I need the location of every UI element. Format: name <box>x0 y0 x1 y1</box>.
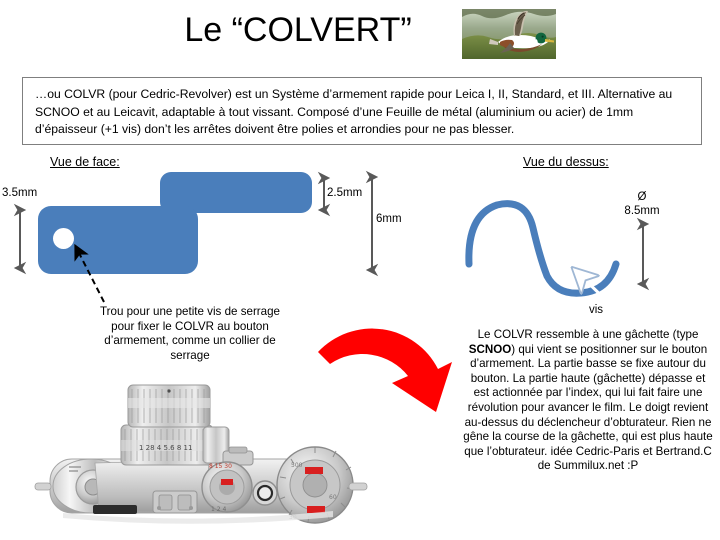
mallard-duck-image <box>462 9 556 59</box>
label-diameter-8-5mm: Ø 8.5mm <box>612 190 672 218</box>
diameter-symbol: Ø <box>612 190 672 204</box>
screw-hole-circle <box>53 228 74 249</box>
description-text-block: Le COLVR ressemble à une gâchette (type … <box>462 328 714 474</box>
label-height-3-5mm: 3.5mm <box>2 186 37 200</box>
svg-text:1 28 4 5.6 8 11: 1 28 4 5.6 8 11 <box>139 444 192 452</box>
intro-text: …ou COLVR (pour Cedric-Revolver) est un … <box>35 86 691 139</box>
front-view-heading: Vue de face: <box>50 155 120 169</box>
description-bold-scnoo: SCNOO <box>469 343 512 356</box>
page-title-text: Le “COLVERT” <box>184 8 411 52</box>
screw-callout-arrow <box>581 276 608 302</box>
description-part-1: Le COLVR ressemble à une gâchette (type <box>478 328 699 341</box>
svg-text:1 2 4: 1 2 4 <box>211 506 226 513</box>
description-part-2: ) qui vient se positionner sur le bouton… <box>463 343 712 458</box>
svg-text:60: 60 <box>329 494 337 501</box>
svg-text:8 15 30: 8 15 30 <box>209 463 232 470</box>
svg-text:500: 500 <box>291 462 303 469</box>
slide-canvas: Le “COLVERT” <box>0 0 720 540</box>
label-height-2-5mm: 2.5mm <box>327 186 362 200</box>
top-view-heading: Vue du dessus: <box>523 155 609 169</box>
intro-textbox: …ou COLVR (pour Cedric-Revolver) est un … <box>22 77 702 145</box>
hole-annotation-text: Trou pour une petite vis de serrage pour… <box>92 305 288 363</box>
description-credit: idée Cedric-Paris et Bertrand.C de Summi… <box>538 445 712 473</box>
label-height-6mm: 6mm <box>376 212 402 226</box>
top-view-s-curve <box>469 204 616 294</box>
leica-camera-image: 1 28 4 5.6 8 11 8 15 30 1 2 4 <box>33 367 370 537</box>
diameter-value: 8.5mm <box>612 204 672 218</box>
screw-label: vis <box>589 304 603 316</box>
page-title: Le “COLVERT” <box>0 8 720 52</box>
